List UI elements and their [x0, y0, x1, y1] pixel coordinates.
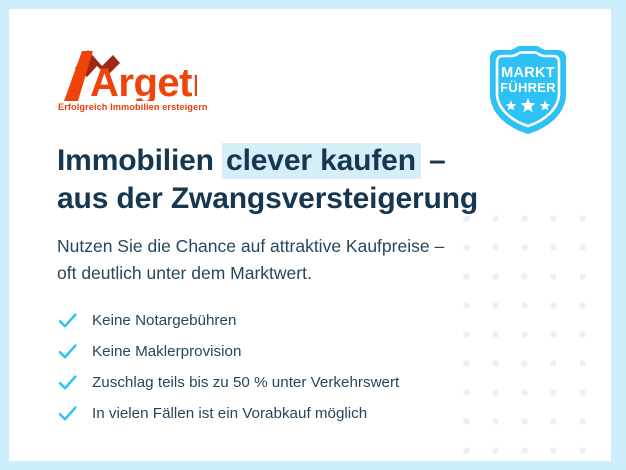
headline-prefix: Immobilien	[57, 144, 222, 177]
banner-card: Argetra Erfolgreich Immobilien ersteiger…	[9, 9, 611, 461]
headline-highlight: clever kaufen	[222, 143, 421, 179]
list-item: In vielen Fällen ist ein Vorabkauf mögli…	[57, 398, 537, 429]
badge-line-1: MARKT	[482, 66, 574, 81]
argetra-logo-mark: Argetra	[57, 47, 197, 101]
check-icon	[57, 341, 78, 362]
list-item: Keine Notargebühren	[57, 305, 537, 336]
headline-line-2: aus der Zwangsversteigerung	[57, 180, 537, 218]
page-title: Immobilien clever kaufen – aus der Zwang…	[57, 142, 537, 218]
subtitle: Nutzen Sie die Chance auf attraktive Kau…	[57, 233, 527, 288]
badge-line-2: FÜHRER	[482, 81, 574, 95]
list-item-label: Keine Maklerprovision	[92, 344, 241, 359]
check-icon	[57, 310, 78, 331]
promo-banner: Argetra Erfolgreich Immobilien ersteiger…	[0, 0, 626, 470]
svg-text:Argetra: Argetra	[90, 61, 197, 101]
market-leader-badge: MARKT FÜHRER	[482, 42, 574, 137]
argetra-logo[interactable]: Argetra Erfolgreich Immobilien ersteiger…	[57, 47, 257, 122]
check-icon	[57, 372, 78, 393]
subtitle-line-2: oft deutlich unter dem Marktwert.	[57, 260, 527, 287]
check-icon	[57, 403, 78, 424]
logo-tagline: Erfolgreich Immobilien ersteigern	[58, 102, 208, 112]
list-item-label: Zuschlag teils bis zu 50 % unter Verkehr…	[92, 375, 399, 390]
benefits-list: Keine Notargebühren Keine Maklerprovisio…	[57, 305, 537, 429]
list-item: Zuschlag teils bis zu 50 % unter Verkehr…	[57, 367, 537, 398]
subtitle-line-1: Nutzen Sie die Chance auf attraktive Kau…	[57, 233, 527, 260]
list-item-label: In vielen Fällen ist ein Vorabkauf mögli…	[92, 406, 367, 421]
three-stars-icon	[502, 97, 554, 113]
list-item-label: Keine Notargebühren	[92, 313, 236, 328]
headline-suffix: –	[421, 144, 446, 177]
badge-stars	[482, 97, 574, 118]
headline-line-1: Immobilien clever kaufen –	[57, 142, 537, 180]
list-item: Keine Maklerprovision	[57, 336, 537, 367]
